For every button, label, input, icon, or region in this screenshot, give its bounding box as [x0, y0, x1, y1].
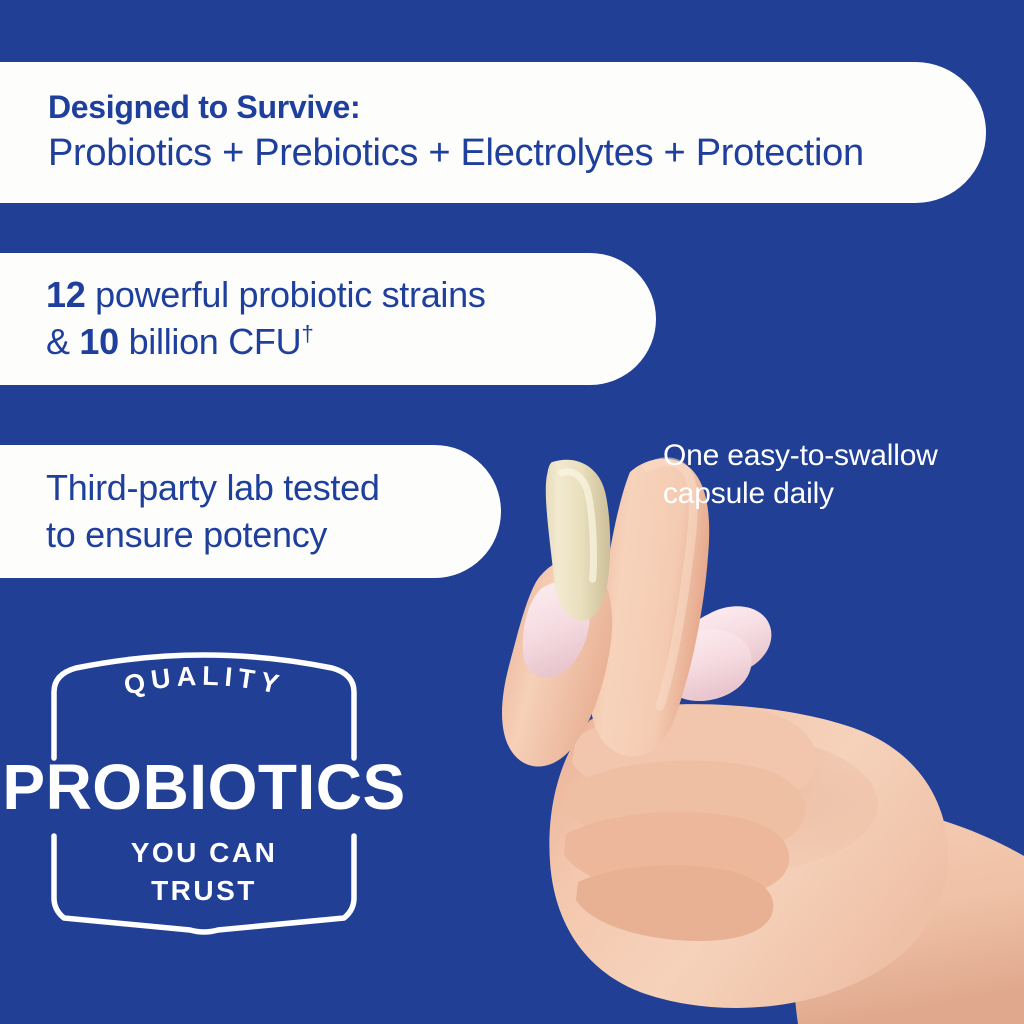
badge-bottom-line-1: YOU CAN: [131, 837, 278, 868]
caption-line-2: capsule daily: [663, 475, 1013, 513]
palm: [549, 704, 948, 1008]
caption-line-1: One easy-to-swallow: [663, 437, 1013, 475]
card-2-line-2: & 10 billion CFU†: [46, 319, 656, 366]
card-1-line-2: Probiotics + Prebiotics + Electrolytes +…: [48, 130, 986, 178]
card-2-ampersand: &: [46, 321, 79, 362]
strain-count: 12: [46, 274, 85, 315]
forearm: [794, 802, 1024, 1024]
quality-probiotics-badge: QUALITY PROBIOTICS YOU CAN TRUST: [28, 648, 528, 948]
nail-middle-finger: [657, 627, 754, 704]
card-3-line-2: to ensure potency: [46, 512, 501, 559]
cfu-count: 10: [79, 321, 118, 362]
card-third-party-tested: Third-party lab tested to ensure potency: [0, 445, 501, 578]
card-strains-and-cfu: 12 powerful probiotic strains & 10 billi…: [0, 253, 656, 385]
badge-main-text: PROBIOTICS: [2, 751, 405, 823]
card-2-line-1: 12 powerful probiotic strains: [46, 272, 656, 319]
card-2-line-1-rest: powerful probiotic strains: [85, 274, 485, 315]
card-designed-to-survive: Designed to Survive: Probiotics + Prebio…: [0, 62, 986, 203]
capsule-daily-caption: One easy-to-swallow capsule daily: [663, 437, 1013, 514]
card-1-line-1: Designed to Survive:: [48, 87, 986, 127]
dagger-footnote-marker: †: [301, 321, 313, 346]
nail-thumb: [523, 582, 590, 678]
capsule: [536, 454, 625, 624]
curled-fingers: [564, 705, 816, 941]
card-2-line-2-rest: billion CFU: [119, 321, 301, 362]
badge-quality-text: QUALITY: [121, 661, 287, 701]
card-3-line-1: Third-party lab tested: [46, 465, 501, 512]
promo-graphic: Designed to Survive: Probiotics + Prebio…: [0, 0, 1024, 1024]
hand-holding-capsule-photo: [498, 452, 1024, 1024]
badge-bottom-line-2: TRUST: [151, 875, 257, 906]
nail-ring-finger: [682, 603, 775, 680]
